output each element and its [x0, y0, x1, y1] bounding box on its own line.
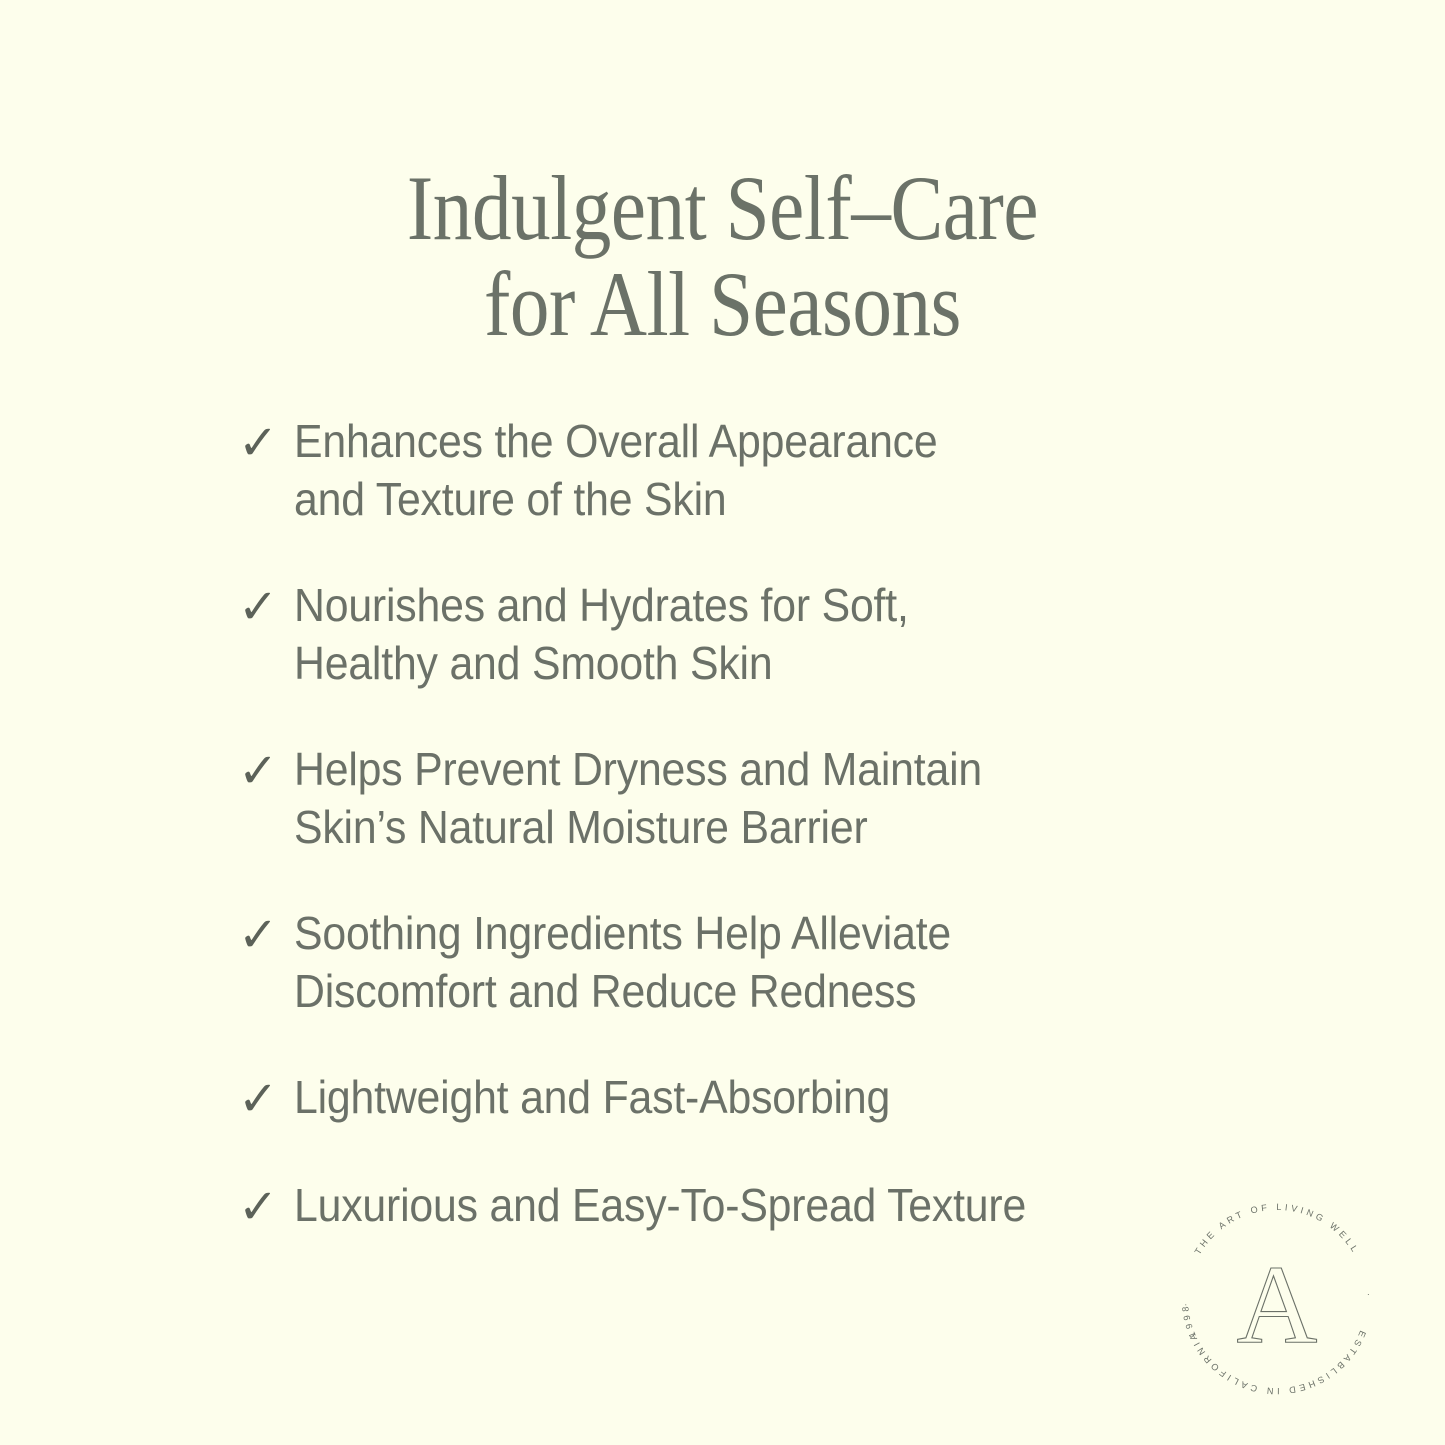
benefit-line-1: Nourishes and Hydrates for Soft,	[294, 576, 1135, 634]
benefit-line-1: Enhances the Overall Appearance	[294, 412, 1135, 470]
benefit-text: Soothing Ingredients Help Alleviate Disc…	[294, 904, 1135, 1020]
benefit-line-1: Luxurious and Easy-To-Spread Texture	[294, 1176, 1135, 1234]
check-icon: ✓	[238, 904, 294, 964]
check-icon: ✓	[238, 412, 294, 472]
check-icon: ✓	[238, 740, 294, 800]
list-item: ✓ Luxurious and Easy-To-Spread Texture	[238, 1176, 1198, 1236]
benefit-text: Enhances the Overall Appearance and Text…	[294, 412, 1135, 528]
check-icon: ✓	[238, 1176, 294, 1236]
benefit-text: Lightweight and Fast-Absorbing	[294, 1068, 1135, 1126]
seal-separator-left: ·	[1180, 1300, 1190, 1307]
benefits-list: ✓ Enhances the Overall Appearance and Te…	[238, 412, 1198, 1236]
seal-separator-right-glyph: ·	[1364, 1293, 1374, 1300]
check-icon: ✓	[238, 1068, 294, 1128]
list-item: ✓ Helps Prevent Dryness and Maintain Ski…	[238, 740, 1198, 856]
list-item: ✓ Nourishes and Hydrates for Soft, Healt…	[238, 576, 1198, 692]
page-title: Indulgent Self–Care for All Seasons	[101, 160, 1344, 352]
check-icon: ✓	[238, 576, 294, 636]
seal-year-label: 1998	[1180, 1303, 1198, 1339]
brand-seal-logo: THE ART OF LIVING WELL ESTABLISHED IN CA…	[1168, 1190, 1386, 1408]
seal-separator-right: ·	[1364, 1293, 1374, 1300]
benefit-text: Luxurious and Easy-To-Spread Texture	[294, 1176, 1135, 1234]
benefit-text: Helps Prevent Dryness and Maintain Skin’…	[294, 740, 1135, 856]
list-item: ✓ Soothing Ingredients Help Alleviate Di…	[238, 904, 1198, 1020]
benefit-line-1: Helps Prevent Dryness and Maintain	[294, 740, 1135, 798]
list-item: ✓ Lightweight and Fast-Absorbing	[238, 1068, 1198, 1128]
page-title-line-1: Indulgent Self–Care	[101, 160, 1344, 256]
benefit-line-2: Skin’s Natural Moisture Barrier	[294, 798, 1135, 856]
benefit-line-2: Healthy and Smooth Skin	[294, 634, 1135, 692]
benefit-text: Nourishes and Hydrates for Soft, Healthy…	[294, 576, 1135, 692]
benefit-line-1: Soothing Ingredients Help Alleviate	[294, 904, 1135, 962]
poster-canvas: Indulgent Self–Care for All Seasons ✓ En…	[0, 0, 1445, 1445]
benefit-line-1: Lightweight and Fast-Absorbing	[294, 1068, 1135, 1126]
seal-monogram: A	[1237, 1243, 1318, 1367]
page-title-line-2: for All Seasons	[101, 256, 1344, 352]
benefit-line-2: Discomfort and Reduce Redness	[294, 962, 1135, 1020]
benefit-line-2: and Texture of the Skin	[294, 470, 1135, 528]
seal-separator-left-glyph: ·	[1180, 1300, 1190, 1307]
seal-year: 1998	[1180, 1303, 1198, 1339]
list-item: ✓ Enhances the Overall Appearance and Te…	[238, 412, 1198, 528]
